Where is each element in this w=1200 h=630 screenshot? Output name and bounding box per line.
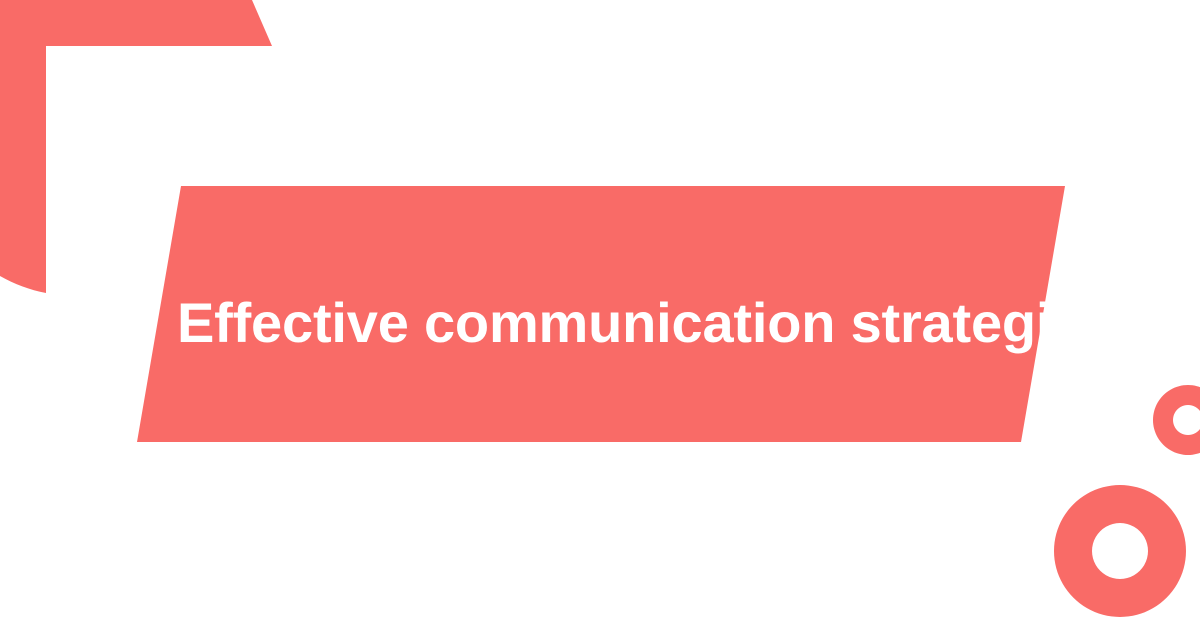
social-card-canvas: Effective communication strategies (0, 0, 1200, 630)
page-title: Effective communication strategies (177, 289, 1077, 357)
large-ring-shape (1054, 485, 1186, 617)
small-ring-shape (1153, 385, 1200, 455)
